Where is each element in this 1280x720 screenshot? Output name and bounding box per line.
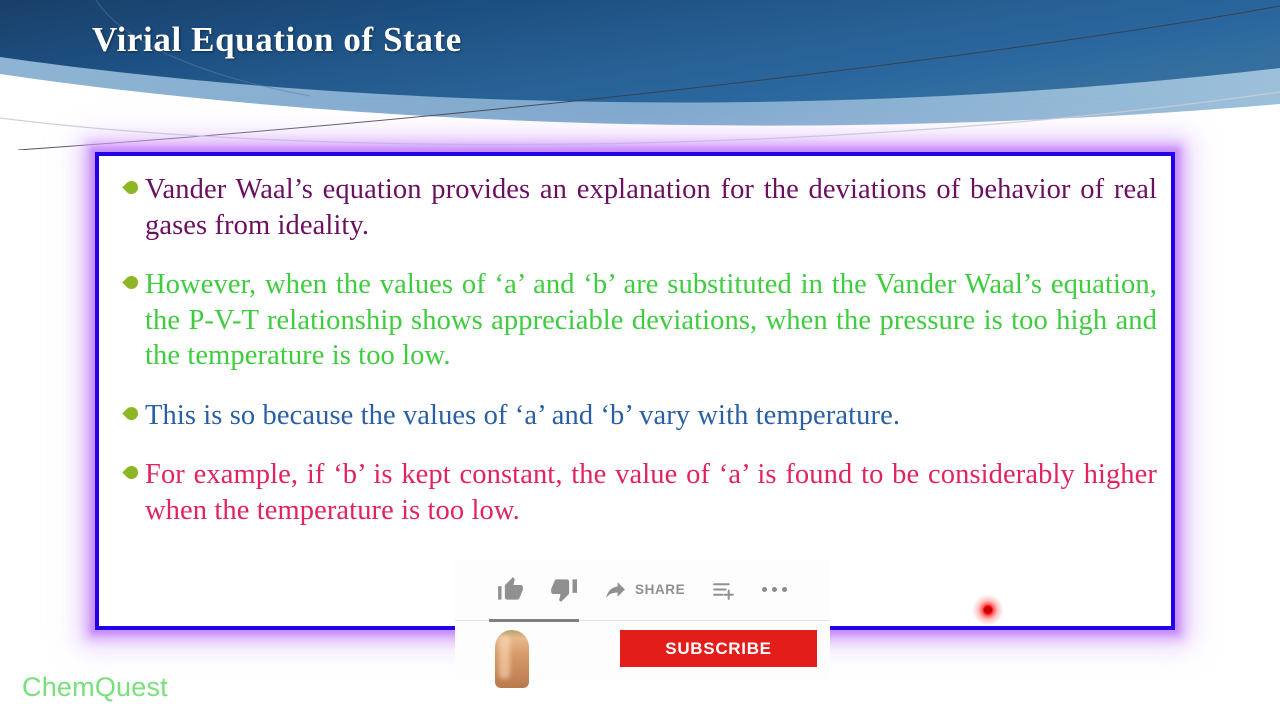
list-item: This is so because the values of ‘a’ and… [117, 398, 1157, 434]
content-box: Vander Waal’s equation provides an expla… [95, 152, 1175, 630]
bullet-text: For example, if ‘b’ is kept constant, th… [145, 457, 1157, 528]
youtube-player-overlay: SHARE SUBSCRIBE [455, 560, 830, 680]
share-button[interactable]: SHARE [603, 577, 685, 602]
ellipsis-dot-icon [772, 587, 777, 592]
list-item: For example, if ‘b’ is kept constant, th… [117, 457, 1157, 528]
share-label: SHARE [635, 582, 685, 597]
chemquest-watermark: ChemQuest [22, 672, 168, 703]
teardrop-bullet-icon [117, 267, 145, 289]
youtube-channel-bar: SUBSCRIBE [455, 618, 830, 678]
teardrop-bullet-icon [117, 172, 145, 194]
bullet-list: Vander Waal’s equation provides an expla… [99, 156, 1171, 626]
bullet-text: However, when the values of ‘a’ and ‘b’ … [145, 267, 1157, 374]
share-arrow-icon [603, 577, 628, 602]
presentation-slide: Virial Equation of State Vander Waal’s e… [0, 0, 1280, 720]
add-to-playlist-icon [711, 577, 736, 602]
list-item: However, when the values of ‘a’ and ‘b’ … [117, 267, 1157, 374]
page-title: Virial Equation of State [92, 20, 462, 60]
dislike-button[interactable] [550, 576, 577, 603]
teardrop-bullet-icon [117, 398, 145, 420]
save-to-playlist-button[interactable] [711, 577, 736, 602]
teardrop-bullet-icon [117, 457, 145, 479]
thumbs-up-icon [497, 576, 524, 603]
list-item: Vander Waal’s equation provides an expla… [117, 172, 1157, 243]
bullet-text: Vander Waal’s equation provides an expla… [145, 172, 1157, 243]
subscribe-button[interactable]: SUBSCRIBE [620, 630, 817, 667]
more-actions-button[interactable] [762, 587, 787, 592]
like-button[interactable] [497, 576, 524, 603]
laser-pointer-cursor [973, 595, 1003, 625]
bullet-text: This is so because the values of ‘a’ and… [145, 398, 1157, 434]
ellipsis-dot-icon [762, 587, 767, 592]
youtube-action-bar: SHARE [455, 560, 830, 618]
ellipsis-dot-icon [782, 587, 787, 592]
channel-avatar[interactable] [495, 630, 529, 688]
thumbs-down-icon [550, 576, 577, 603]
